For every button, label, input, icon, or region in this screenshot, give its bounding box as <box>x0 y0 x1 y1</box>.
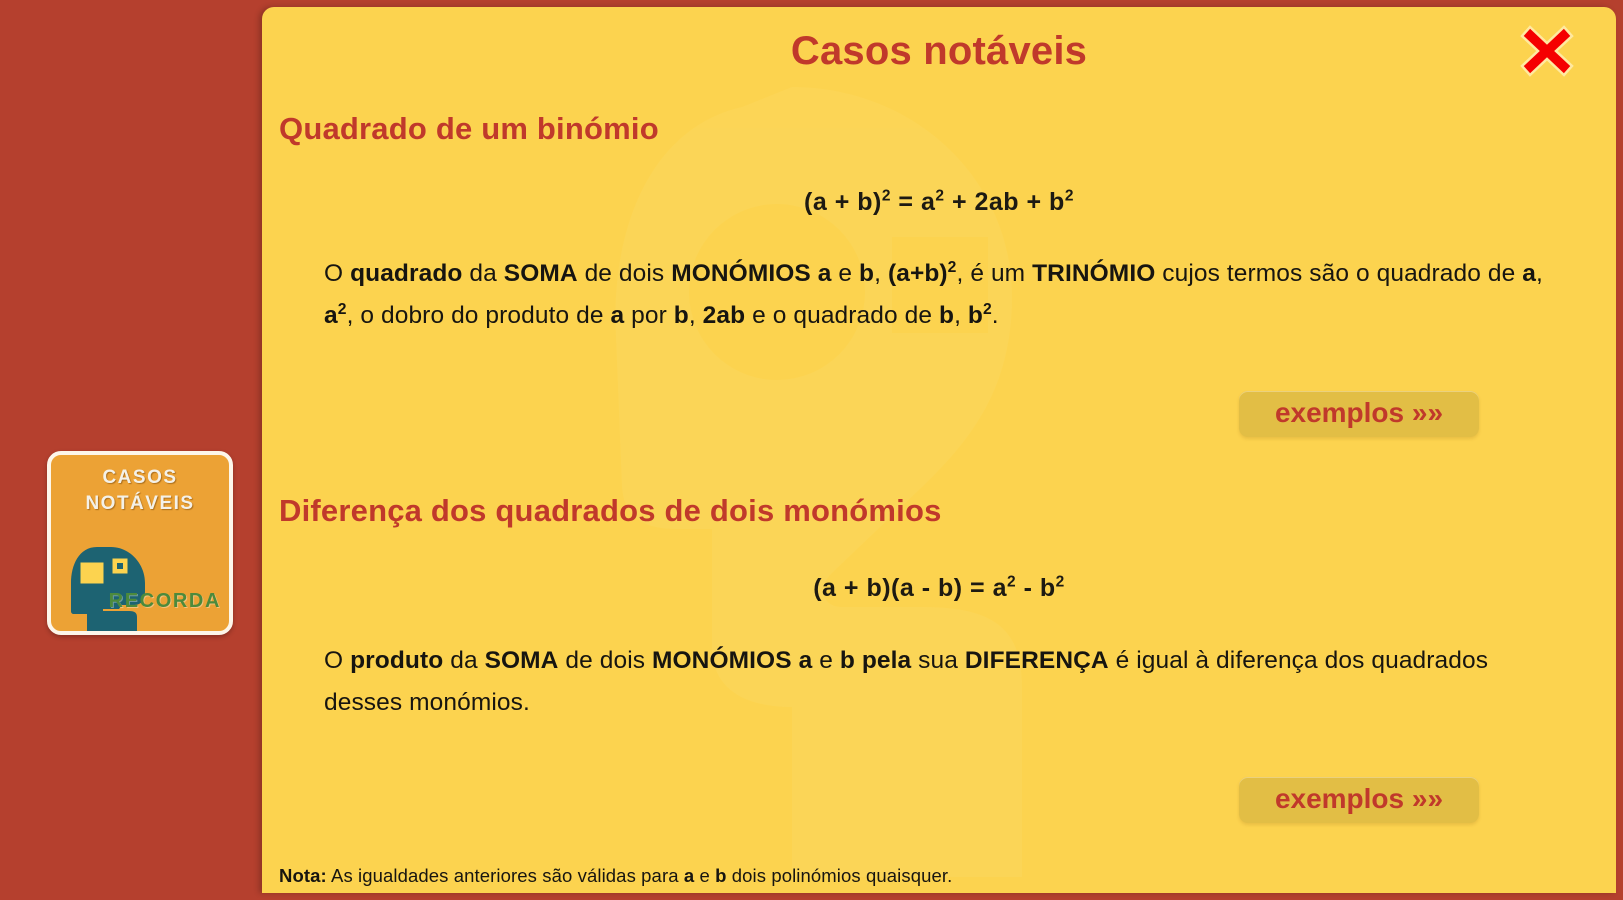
section-heading-quadrado-binomio: Quadrado de um binómio <box>279 111 659 147</box>
sidebar-button-title-line-1: CASOS <box>51 465 229 491</box>
paragraph-text-2: O produto da SOMA de dois MONÓMIOS a e b… <box>324 647 1488 716</box>
formula-quadrado-binomio: (a + b)2 = a2 + 2ab + b2 <box>262 188 1616 217</box>
examples-button-diferenca-quadrados[interactable]: exemplos »» <box>1239 777 1479 823</box>
formula-diferenca-quadrados: (a + b)(a - b) = a2 - b2 <box>262 574 1616 603</box>
page-title: Casos notáveis <box>262 29 1616 74</box>
paragraph-quadrado-binomio: O quadrado da SOMA de dois MONÓMIOS a e … <box>324 253 1554 337</box>
sidebar-button-label: RECORDA <box>109 590 221 613</box>
paragraph-diferenca-quadrados: O produto da SOMA de dois MONÓMIOS a e b… <box>324 640 1554 724</box>
formula-text-1: (a + b)2 = a2 + 2ab + b2 <box>804 188 1074 216</box>
sidebar-button-title: CASOS NOTÁVEIS <box>51 465 229 516</box>
close-x-icon[interactable] <box>1520 25 1574 77</box>
formula-text-2: (a + b)(a - b) = a2 - b2 <box>813 574 1065 602</box>
sidebar-button-title-line-2: NOTÁVEIS <box>51 491 229 517</box>
section-heading-diferenca-quadrados: Diferença dos quadrados de dois monómios <box>279 493 942 529</box>
application-root: CASOS NOTÁVEIS RECORDA Casos notáveis <box>0 0 1623 900</box>
sidebar-item-casos-notaveis[interactable]: CASOS NOTÁVEIS RECORDA <box>47 451 233 635</box>
sidebar: CASOS NOTÁVEIS RECORDA <box>0 0 262 900</box>
casos-notaveis-panel: Casos notáveis Quadrado de um binómio (a… <box>262 7 1616 893</box>
paragraph-text-1: O quadrado da SOMA de dois MONÓMIOS a e … <box>324 260 1543 329</box>
examples-button-quadrado-binomio[interactable]: exemplos »» <box>1239 391 1479 437</box>
note-text: Nota: As igualdades anteriores são válid… <box>279 865 952 887</box>
head-with-blocks-icon <box>67 539 177 635</box>
note-inline: Nota: As igualdades anteriores são válid… <box>279 865 952 886</box>
